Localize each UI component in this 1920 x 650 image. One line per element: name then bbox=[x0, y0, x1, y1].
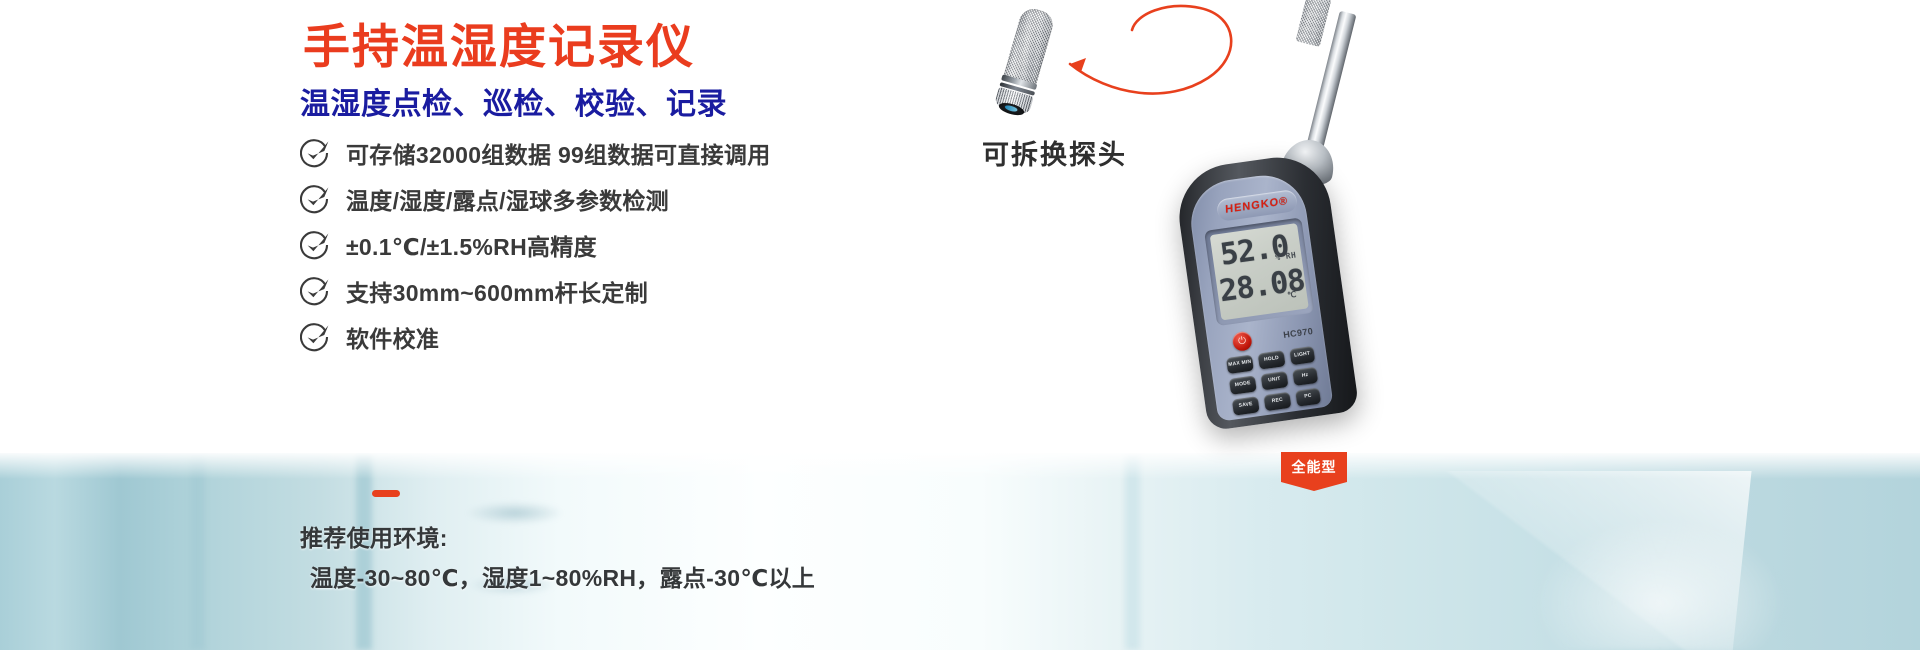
list-item: 可存储32000组数据 99组数据可直接调用 bbox=[300, 130, 771, 176]
check-circle-icon bbox=[300, 322, 330, 352]
key-pc[interactable]: PC bbox=[1295, 388, 1321, 407]
device-probe-sensor-head bbox=[1295, 0, 1333, 47]
list-item: 软件校准 bbox=[300, 314, 771, 360]
lcd-temperature-unit: ℃ bbox=[1287, 290, 1298, 300]
key-mode[interactable]: MODE bbox=[1229, 375, 1257, 394]
check-circle-icon bbox=[300, 276, 330, 306]
list-item: 温度/湿度/露点/湿球多参数检测 bbox=[300, 176, 771, 222]
status-badge-label: 全能型 bbox=[1292, 457, 1337, 477]
model-label: HC970 bbox=[1283, 326, 1314, 340]
lab-background-band bbox=[0, 453, 1920, 650]
brand-plate: HENGKO® bbox=[1216, 189, 1298, 222]
environment-heading: 推荐使用环境: bbox=[300, 518, 815, 558]
list-item-label: 可存储32000组数据 99组数据可直接调用 bbox=[346, 136, 771, 170]
key-max-min[interactable]: MAX MIN bbox=[1226, 355, 1254, 374]
environment-block: 推荐使用环境: 温度-30~80℃，湿度1~80%RH，露点-30℃以上 bbox=[300, 518, 815, 598]
list-item-label: ±0.1℃/±1.5%RH高精度 bbox=[346, 228, 597, 262]
key-unit[interactable]: UNIT bbox=[1261, 371, 1289, 390]
page-subtitle: 温湿度点检、巡检、校验、记录 bbox=[300, 79, 727, 123]
lcd-bezel: 52.0 % RH 28.08 ℃ bbox=[1204, 217, 1314, 326]
key-hz[interactable]: Hz bbox=[1292, 367, 1318, 386]
probe-label: 可拆换探头 bbox=[982, 133, 1127, 172]
check-circle-icon bbox=[300, 230, 330, 260]
lcd-screen: 52.0 % RH 28.08 ℃ bbox=[1210, 223, 1309, 320]
check-circle-icon bbox=[300, 184, 330, 214]
status-badge: 全能型 bbox=[1281, 452, 1347, 482]
key-hold[interactable]: HOLD bbox=[1258, 350, 1286, 369]
list-item-label: 支持30mm~600mm杆长定制 bbox=[346, 274, 648, 308]
list-item-label: 温度/湿度/露点/湿球多参数检测 bbox=[346, 182, 669, 216]
product-banner: 手持温湿度记录仪 温湿度点检、巡检、校验、记录 可存储32000组数据 99组数… bbox=[0, 0, 1920, 650]
brand-label: HENGKO® bbox=[1225, 195, 1288, 216]
meter-device-image: HENGKO® 52.0 % RH 28.08 ℃ bbox=[1115, 0, 1535, 520]
list-item-label: 软件校准 bbox=[346, 320, 439, 354]
key-rec[interactable]: REC bbox=[1264, 392, 1292, 411]
handheld-meter: HENGKO® 52.0 % RH 28.08 ℃ bbox=[1173, 151, 1360, 432]
page-title: 手持温湿度记录仪 bbox=[303, 8, 695, 77]
list-item: 支持30mm~600mm杆长定制 bbox=[300, 268, 771, 314]
environment-detail: 温度-30~80℃，湿度1~80%RH，露点-30℃以上 bbox=[300, 558, 815, 598]
feature-list: 可存储32000组数据 99组数据可直接调用 温度/湿度/露点/湿球多参数检测 … bbox=[300, 130, 771, 360]
power-icon: ⏻ bbox=[1238, 336, 1247, 347]
key-save[interactable]: SAVE bbox=[1232, 396, 1260, 415]
key-light[interactable]: LIGHT bbox=[1289, 346, 1315, 365]
check-circle-icon bbox=[300, 138, 330, 168]
power-button[interactable]: ⏻ bbox=[1232, 331, 1253, 352]
accent-dash bbox=[372, 490, 400, 497]
list-item: ±0.1℃/±1.5%RH高精度 bbox=[300, 222, 771, 268]
